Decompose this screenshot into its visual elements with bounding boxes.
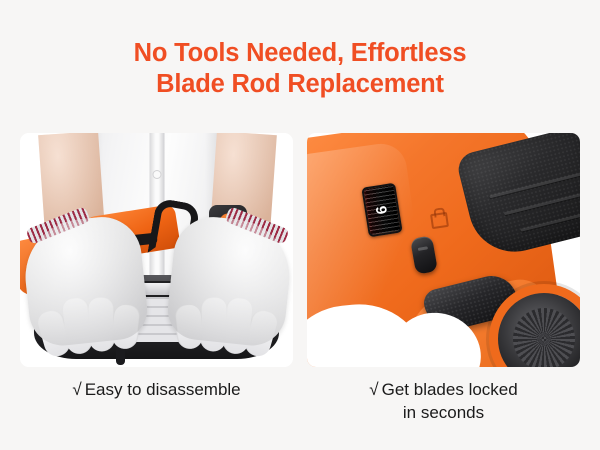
- scene-disassemble: [20, 133, 293, 367]
- page-title-line-2: Blade Rod Replacement: [0, 69, 600, 100]
- scene-tool-closeup: 6: [307, 133, 580, 367]
- glove-left: [20, 213, 150, 349]
- image-panels: 6: [20, 133, 580, 367]
- promo-banner: No Tools Needed, Effortless Blade Rod Re…: [0, 0, 600, 450]
- caption-left-text: Easy to disassemble: [85, 380, 241, 399]
- lock-icon: [430, 212, 449, 229]
- check-icon: √: [72, 380, 81, 399]
- shirt-button: [153, 171, 160, 178]
- glove-right: [165, 213, 293, 349]
- product-image-right: 6: [307, 133, 580, 367]
- page-title: No Tools Needed, Effortless Blade Rod Re…: [0, 38, 600, 100]
- product-image-left: [20, 133, 293, 367]
- page-title-line-1: No Tools Needed, Effortless: [0, 38, 600, 69]
- caption-right: √Get blades locked in seconds: [307, 378, 580, 424]
- panel-captions: √Easy to disassemble √Get blades locked …: [20, 378, 580, 424]
- check-icon: √: [369, 380, 378, 399]
- caption-left: √Easy to disassemble: [20, 378, 293, 424]
- caption-right-text-line-2: in seconds: [307, 401, 580, 424]
- caption-right-text-line-1: Get blades locked: [382, 380, 518, 399]
